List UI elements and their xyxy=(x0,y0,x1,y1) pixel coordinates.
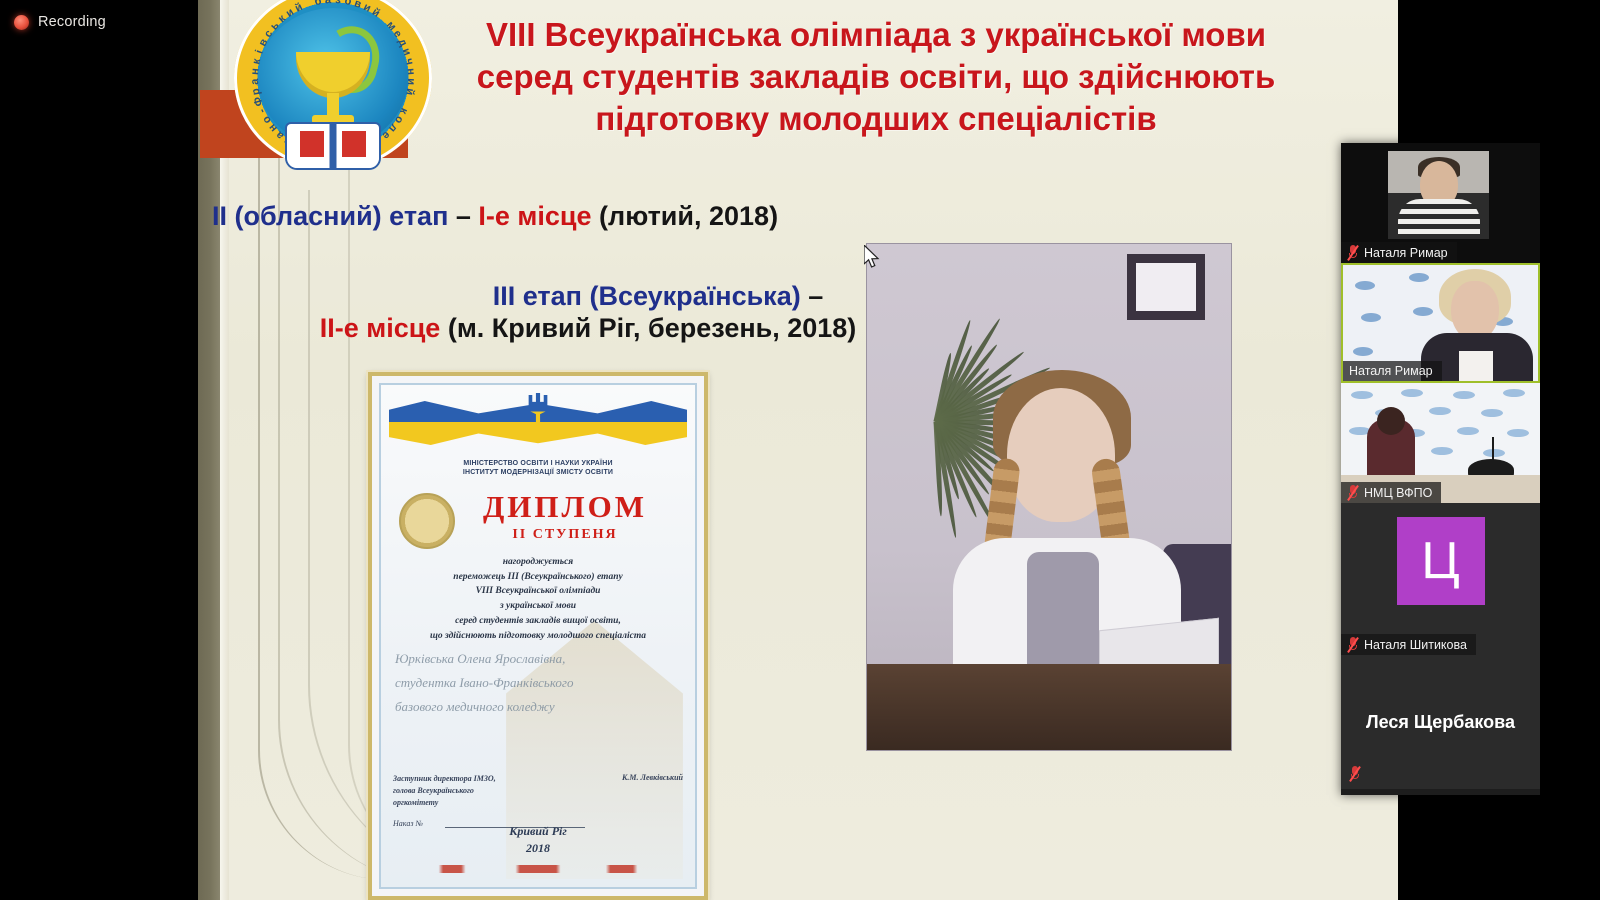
participant-name: Леся Щербакова xyxy=(1341,655,1540,789)
screen-root: Recording Івано-Франківський базовий мед… xyxy=(0,0,1600,900)
diploma-body-line-2: переможець III (Всеукраїнського) етапу xyxy=(391,570,685,585)
participant-face xyxy=(1451,281,1499,341)
diploma-city-year: Кривий Ріг 2018 xyxy=(381,823,695,857)
diploma-ministry-line-2: ІНСТИТУТ МОДЕРНІЗАЦІЇ ЗМІСТУ ОСВІТИ xyxy=(381,468,695,477)
subtitle-1-date: (лютий, 2018) xyxy=(592,201,779,231)
diploma-ministry: МІНІСТЕРСТВО ОСВІТИ І НАУКИ УКРАЇНИ ІНСТ… xyxy=(381,459,695,478)
mic-muted-icon xyxy=(1347,637,1359,652)
photo-person-shirt xyxy=(1027,552,1099,682)
logo-ring-char: а xyxy=(249,78,261,85)
participant-tile[interactable]: Ц Наталя Шитикова xyxy=(1341,503,1540,655)
logo-ring-char: и xyxy=(400,47,414,57)
recording-indicator: Recording xyxy=(0,0,186,44)
shared-slide: Івано-Франківський базовий медичний коле… xyxy=(198,0,1398,900)
diploma-body-line-4: з української мови xyxy=(391,599,685,614)
logo-ring-char: й xyxy=(403,87,416,96)
avatar: Ц xyxy=(1397,517,1485,605)
logo-foot xyxy=(312,115,354,124)
subtitle-1-stage: II (обласний) етап xyxy=(212,201,448,231)
diploma-handwritten: Юрківська Олена Ярославівна, студентка І… xyxy=(395,647,681,719)
recording-label: Recording xyxy=(38,14,106,30)
logo-ring-char: а xyxy=(325,0,332,6)
participant-tile[interactable]: НМЦ ВФПО xyxy=(1341,383,1540,503)
subtitle-1-dash: – xyxy=(448,201,478,231)
diploma-degree: II СТУПЕНЯ xyxy=(443,527,687,543)
photo-wall-frame xyxy=(1127,254,1205,320)
diploma-image: МІНІСТЕРСТВО ОСВІТИ І НАУКИ УКРАЇНИ ІНСТ… xyxy=(368,372,708,900)
logo-ring-char: н xyxy=(404,68,417,76)
participant-tile[interactable]: Леся Щербакова xyxy=(1341,655,1540,789)
mic-muted-icon xyxy=(1347,485,1359,500)
logo-ring-char: к xyxy=(397,106,410,116)
logo-ring-char: ч xyxy=(403,57,416,66)
logo-ring-char: н xyxy=(249,68,262,76)
participant-name-badge: Наталя Римар xyxy=(1341,242,1457,263)
participant-name: НМЦ ВФПО xyxy=(1364,486,1432,500)
mouse-cursor-icon xyxy=(864,245,882,271)
subtitle-1-place: I-е місце xyxy=(478,201,591,231)
participant-name-badge: НМЦ ВФПО xyxy=(1341,482,1441,503)
diploma-word: ДИПЛОМ xyxy=(443,489,687,525)
diploma-signature-line-2: голова Всеукраїнського xyxy=(393,785,683,797)
logo-ring-char: в xyxy=(257,37,271,48)
participant-shirt xyxy=(1398,199,1480,239)
diploma-body-line-5: серед студентів закладів вищої освіти, xyxy=(391,614,685,629)
participant-head xyxy=(1377,407,1405,435)
participant-blouse xyxy=(1459,351,1493,381)
diploma-handwritten-line-1: Юрківська Олена Ярославівна, xyxy=(395,647,681,671)
diploma-year: 2018 xyxy=(381,840,695,857)
diploma-handwritten-line-3: базового медичного коледжу xyxy=(395,695,681,719)
participant-name: Наталя Римар xyxy=(1364,246,1448,260)
subtitle-2-dash: – xyxy=(801,281,824,311)
diploma-ministry-line-1: МІНІСТЕРСТВО ОСВІТИ І НАУКИ УКРАЇНИ xyxy=(381,459,695,468)
participant-name-badge: Наталя Римар xyxy=(1343,361,1442,381)
participant-name: Наталя Римар xyxy=(1349,364,1433,378)
diploma-flourish xyxy=(425,865,651,873)
recording-dot-icon xyxy=(14,15,29,30)
slide-title: VIII Всеукраїнська олімпіада з українськ… xyxy=(466,14,1286,140)
subtitle-3-location: (м. Кривий Ріг, березень, 2018) xyxy=(440,313,856,343)
participants-panel[interactable]: Наталя Римар Наталя Римар xyxy=(1341,143,1540,795)
college-logo: Івано-Франківський базовий медичний коле… xyxy=(234,0,432,170)
logo-ring-char: о xyxy=(344,0,353,8)
diploma-body: нагороджується переможець III (Всеукраїн… xyxy=(391,555,685,643)
participant-name: Наталя Шитикова xyxy=(1364,638,1467,652)
diploma-body-line-1: нагороджується xyxy=(391,555,685,570)
logo-book-icon xyxy=(287,124,379,168)
slide-subtitle-place: II-е місце (м. Кривий Ріг, березень, 201… xyxy=(208,312,968,344)
mic-muted-icon xyxy=(1349,766,1361,781)
diploma-body-line-3: VIII Всеукраїнської олімпіади xyxy=(391,584,685,599)
participant-name-badge: Наталя Шитикова xyxy=(1341,634,1476,655)
photo-desk xyxy=(867,664,1231,750)
participant-tile[interactable]: Наталя Римар xyxy=(1341,143,1540,263)
subtitle-2-stage: III етап (Всеукраїнська) xyxy=(493,281,801,311)
diploma-handwritten-line-2: студентка Івано-Франківського xyxy=(395,671,681,695)
participant-tile-active-speaker[interactable]: Наталя Римар xyxy=(1341,263,1540,383)
diploma-signatory-name: К.М. Левківський xyxy=(622,773,683,782)
mic-muted-icon xyxy=(1347,245,1359,260)
subtitle-3-place: II-е місце xyxy=(320,313,441,343)
logo-ring-char: з xyxy=(335,0,341,6)
student-photo xyxy=(866,243,1232,751)
logo-ring-char: - xyxy=(256,107,268,115)
logo-ring-char: й xyxy=(370,6,382,20)
logo-ring-char: й xyxy=(293,1,304,15)
slide-subtitle-stage-2: II (обласний) етап – I-е місце (лютий, 2… xyxy=(212,200,972,232)
participant-video xyxy=(1388,151,1489,239)
diploma-inner: МІНІСТЕРСТВО ОСВІТИ І НАУКИ УКРАЇНИ ІНСТ… xyxy=(379,383,697,889)
logo-ring-char: Ф xyxy=(251,95,265,108)
diploma-signature-line-3: оргкомітету xyxy=(393,797,683,809)
logo-ring-char: и xyxy=(405,78,417,85)
diploma-city: Кривий Ріг xyxy=(381,823,695,840)
diploma-body-line-6: що здійснюють підготовку молодшого спеці… xyxy=(391,629,685,644)
logo-ring-char: і xyxy=(253,48,265,55)
logo-ring-char: к xyxy=(250,58,263,66)
logo-ring-char: б xyxy=(313,0,322,8)
